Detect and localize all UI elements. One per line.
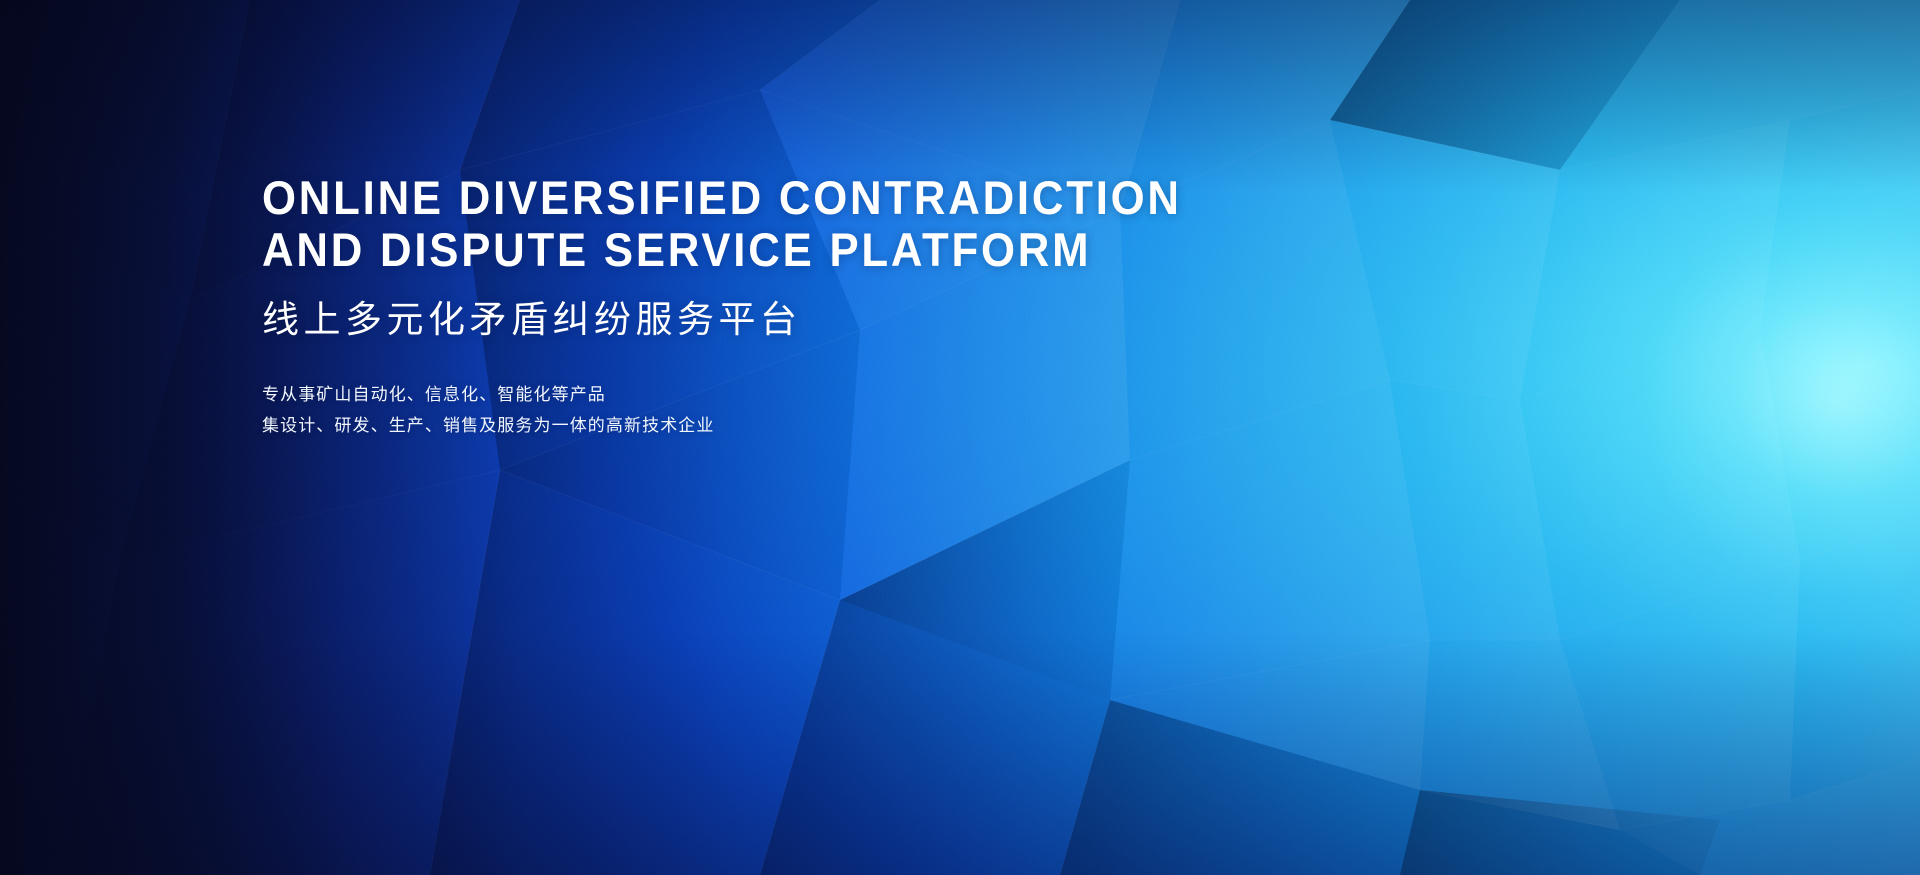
page-title-line-2: AND DISPUTE SERVICE PLATFORM	[262, 224, 1359, 276]
page-description-line-2: 集设计、研发、生产、销售及服务为一体的高新技术企业	[262, 410, 1442, 441]
page-subtitle: 线上多元化矛盾纠纷服务平台	[262, 297, 1442, 343]
page-description: 专从事矿山自动化、信息化、智能化等产品 集设计、研发、生产、销售及服务为一体的高…	[262, 379, 1442, 441]
hero-banner: ONLINE DIVERSIFIED CONTRADICTION AND DIS…	[0, 0, 1920, 875]
page-description-line-1: 专从事矿山自动化、信息化、智能化等产品	[262, 379, 1442, 410]
hero-content: ONLINE DIVERSIFIED CONTRADICTION AND DIS…	[262, 172, 1442, 441]
page-title: ONLINE DIVERSIFIED CONTRADICTION AND DIS…	[262, 172, 1359, 276]
page-title-line-1: ONLINE DIVERSIFIED CONTRADICTION	[262, 172, 1359, 224]
